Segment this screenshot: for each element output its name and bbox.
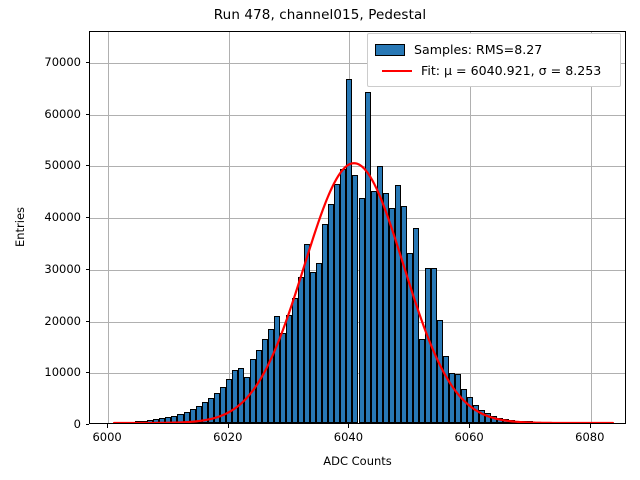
plot-area	[89, 31, 626, 424]
x-tick-mark	[228, 424, 229, 428]
x-tick-label: 6080	[575, 430, 604, 444]
y-tick-mark	[86, 321, 90, 322]
y-tick-label: 10000	[0, 365, 81, 379]
y-tick-mark	[86, 165, 90, 166]
x-axis-label: ADC Counts	[89, 454, 626, 468]
legend-item-samples[interactable]: Samples: RMS=8.27	[375, 39, 613, 60]
legend-label-samples: Samples: RMS=8.27	[414, 42, 542, 57]
legend-patch-icon	[375, 44, 405, 56]
y-axis-label: Entries	[13, 207, 27, 247]
y-tick-mark	[86, 372, 90, 373]
y-tick-mark	[86, 217, 90, 218]
y-tick-label: 60000	[0, 107, 81, 121]
legend-item-fit[interactable]: Fit: μ = 6040.921, σ = 8.253	[375, 60, 613, 81]
x-tick-mark	[469, 424, 470, 428]
legend[interactable]: Samples: RMS=8.27 Fit: μ = 6040.921, σ =…	[367, 33, 621, 87]
x-tick-label: 6000	[92, 430, 121, 444]
chart-title: Run 478, channel015, Pedestal	[0, 7, 640, 23]
legend-line-icon	[382, 70, 412, 72]
y-tick-mark	[86, 424, 90, 425]
y-tick-label: 50000	[0, 158, 81, 172]
x-tick-mark	[107, 424, 108, 428]
y-tick-label: 30000	[0, 262, 81, 276]
y-tick-mark	[86, 269, 90, 270]
x-tick-label: 6040	[334, 430, 363, 444]
y-tick-mark	[86, 114, 90, 115]
legend-label-fit: Fit: μ = 6040.921, σ = 8.253	[421, 63, 601, 78]
y-tick-label: 20000	[0, 314, 81, 328]
y-tick-label: 0	[0, 417, 81, 431]
gaussian-fit-curve	[90, 32, 625, 423]
x-tick-mark	[590, 424, 591, 428]
x-tick-label: 6060	[454, 430, 483, 444]
figure: Run 478, channel015, Pedestal 6000602060…	[0, 0, 640, 480]
y-tick-label: 70000	[0, 55, 81, 69]
x-tick-label: 6020	[213, 430, 242, 444]
y-tick-mark	[86, 62, 90, 63]
x-tick-mark	[348, 424, 349, 428]
